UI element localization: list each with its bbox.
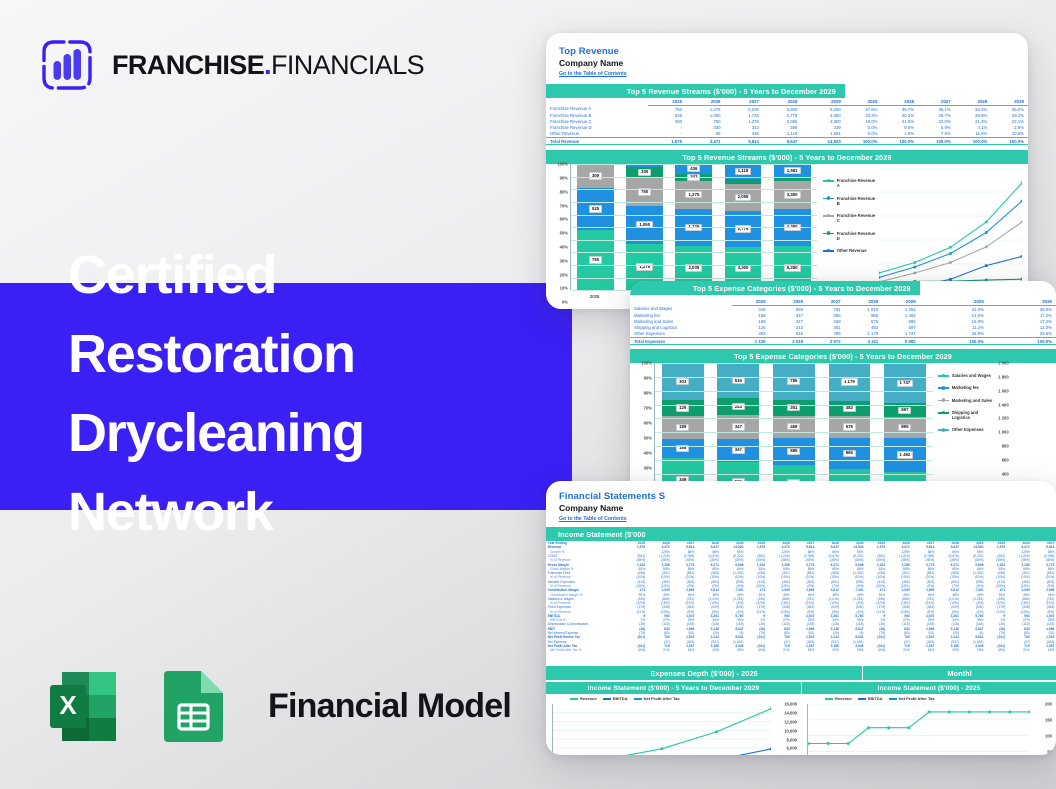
legend-item: Other Revenue [823,248,879,253]
bar-chart-logo-icon [36,34,98,96]
revenue-company-name: Company Name [559,58,1028,68]
fin-chart2-y-axis: (50)-50100150200 [1032,704,1054,755]
bar-segment: 1 492 [884,438,926,472]
legend-label: Net Profit After Tax [644,696,680,701]
table-cell: (6%) [625,648,647,652]
bar-segment: 158 [662,439,704,458]
legend-item: Net Profit After Tax [889,696,935,701]
axis-tick: 8,000 [787,737,797,742]
row-label: Net Profit After Tax % [546,648,625,652]
axis-tick: 30% [644,466,652,471]
fin-chart2-plot [807,704,1030,755]
format-label: Financial Model [268,687,511,726]
legend-label: Marketing fee [952,385,994,390]
bar-segment: 351 [773,400,815,416]
legend-item: Franchise Revenue A [823,178,879,189]
bar-segment: 1,050 [626,206,663,244]
col-2026: 2026 [686,98,724,106]
legend-item: Franchise Revenue C [823,213,879,224]
bar-segment: 675 [829,416,871,438]
fin-chart1-legend: RevenueEBITDANet Profit After Tax [570,696,680,701]
bar-segment: 243 [717,398,759,415]
axis-tick: 600 [1002,457,1009,462]
table-cell: 26% [721,648,746,652]
revenue-bar-y-axis: 0%10%20%30%40%50%60%70%80%90%100% [546,164,570,302]
legend-item: Salaries and Wages [938,373,994,378]
table-cell: 26% [841,648,866,652]
legend-label: Salaries and Wages [952,373,994,378]
table-row: Net Profit After Tax %(6%)21%18%23%26%(6… [546,648,1056,652]
legend-item: EBITDA [858,696,883,701]
expense-value-table: 2025 2026 2027 2028 2029 Salaries and Wa… [630,298,920,345]
axis-tick: 400 [1002,471,1009,476]
legend-label: Other Expenses [952,427,994,432]
table-cell: 23% [696,648,721,652]
axis-tick: 70% [560,203,568,208]
legend-label: Franchise Revenue A [837,178,879,189]
bar-segment: 1 179 [829,363,871,401]
page-title: Certified Restoration Drycleaning Networ… [68,236,588,552]
fin-chart2-legend: RevenueEBITDANet Profit After Tax [825,696,935,701]
microsoft-excel-icon: X [40,663,127,750]
legend-item: Revenue [825,696,852,701]
legend-label: Marketing and Sales [952,398,994,403]
fin-chart1-banner: Income Statement ($'000) - 5 Years to De… [546,682,801,694]
revenue-chart-legend: Franchise Revenue AFranchise Revenue BFr… [823,178,879,260]
income-statement-table: Year Ending20252026202720282029202520262… [546,541,1056,652]
revenue-value-table: 2025 2026 2027 2028 2029 Franchise Reven… [546,98,845,145]
bar-segment: 585 [773,438,815,465]
col-2028: 2028 [763,98,801,106]
axis-tick: 40% [560,244,568,249]
bar-segment: 1,581 [774,164,811,177]
table-cell: 21% [887,648,912,652]
axis-tick: 70% [644,406,652,411]
revenue-toc-link[interactable]: Go to the Table of Contents [559,71,1028,77]
title-line-1: Certified [68,236,588,315]
col-2029: 2029 [801,98,844,106]
table-cell: 21% [1007,648,1032,652]
table-header-row: 2025 2026 2027 2028 2029 [546,98,845,106]
table-row: Other Revenue-664361,1181,581 [546,131,845,138]
table-header-row: 2025 2026 [920,298,1056,306]
expense-percent-table: 2025 2026 31.0%28.0% 14.0%17.2% 16.8%17.… [920,298,1056,345]
fin-5yr-line-chart: RevenueEBITDANet Profit After Tax (2,000… [546,694,801,755]
fin-company-name: Company Name [559,503,1056,513]
axis-tick: 800 [1002,443,1009,448]
axis-tick: 90% [560,175,568,180]
legend-label: Franchise Revenue C [837,213,879,224]
table-cell: 23% [816,648,841,652]
axis-tick: 50% [560,231,568,236]
table-total-row: Total Expenses1 1252 0192 9724 3115 982 [630,337,920,344]
legend-item: Franchise Revenue B [823,196,879,207]
axis-tick: 20% [560,272,568,277]
fin-chart2-banner: Income Statement ($'000) - 2025 [801,682,1056,694]
axis-tick: 200 [1045,702,1052,707]
axis-tick: 1 600 [998,388,1008,393]
legend-item: Marketing and Sales [938,398,994,403]
table-total-row: 100.0%100.0%100.0%100.0%100.0% [845,137,1028,144]
expense-chart-legend: Salaries and WagesMarketing feeMarketing… [938,373,994,440]
table-cell: 23% [936,648,961,652]
bar-segment: 786 [773,363,815,400]
table-row: Franchise Revenue A7501,2752,0353,3005,2… [546,106,845,113]
x-tick: 2025 [576,294,613,299]
brand-word-bold: FRANCHISE [112,50,264,80]
bar-segment: 436 [675,164,712,173]
table-cell: (6%) [985,648,1007,652]
axis-tick: 0% [562,300,568,305]
table-header-row: 2025 2026 2027 2028 2029 [630,298,920,306]
line-series-svg [553,704,771,755]
axis-tick: 1 200 [998,416,1008,421]
legend-label: EBITDA [613,696,628,701]
revenue-table-banner: Top 5 Revenue Streams ($'000) - 5 Years … [546,84,845,98]
axis-tick: 40% [644,451,652,456]
monthly-banner: Monthl [862,666,1056,680]
brand-wordmark: FRANCHISE.FINANCIALS [112,50,424,81]
bar-segment: 2,055 [725,184,762,211]
svg-text:X: X [59,690,77,720]
bar-segment: 303 [662,363,704,400]
legend-label: Franchise Revenue D [837,231,879,242]
table-row: 0.0%1.9%7.5%11.6%10.6% [845,131,1028,138]
revenue-bar-plot: 3005257503307501,0501,2754363431,2751,72… [570,164,817,290]
fin-sheet-title: Financial Statements S [559,491,1056,502]
brand-logo: FRANCHISE.FINANCIALS [36,34,424,96]
revenue-line-plot [879,168,1022,288]
brand-word-dot: . [264,50,271,80]
table-row: Salaries and Wages3495657811 0101 251 [630,306,920,313]
axis-tick: 1 400 [998,402,1008,407]
fin-sheet-header: Financial Statements S Company Name Go t… [546,481,1056,522]
table-header-row: 2025 2026 2027 2028 2029 [845,98,1028,106]
table-row: 31.0%28.0% [920,306,1056,313]
bar-segment: 482 [829,401,871,416]
legend-item: Marketing fee [938,385,994,390]
title-line-2: Restoration [68,315,588,394]
fin-table-banner: Income Statement ($'000 [546,527,1056,541]
table-cell: (6%) [745,648,767,652]
bar-segment: 1,275 [675,181,712,209]
axis-tick: 100% [557,162,568,167]
axis-tick: 10% [560,286,568,291]
brand-word-thin: FINANCIALS [271,50,424,80]
axis-tick: 1 000 [998,430,1008,435]
axis-tick: 50% [644,436,652,441]
legend-item: Other Expenses [938,427,994,432]
legend-label: Shipping and Logistics [952,410,994,421]
bar-segment: 2,775 [725,211,762,247]
table-row: Other Expenses3035167861 1791 747 [630,331,920,338]
bar-segment: 1 747 [884,363,926,403]
legend-item: Revenue [570,696,597,701]
expense-table-banner: Top 5 Expense Categories ($'000) - 5 Yea… [630,281,920,295]
axis-tick: 6,000 [787,746,797,751]
table-total-row: 100.0%100.0% [920,337,1056,344]
title-line-4: Network [68,473,588,552]
fin-toc-link[interactable]: Go to the Table of Contents [559,516,1056,522]
table-cell: 18% [911,648,936,652]
fin-monthly-line-chart: RevenueEBITDANet Profit After Tax (50)-5… [801,694,1056,755]
revenue-sheet-title: Top Revenue [559,46,1028,57]
axis-tick: 1 800 [998,374,1008,379]
table-cell: 21% [647,648,672,652]
legend-label: Revenue [835,696,852,701]
bar-segment: 895 [884,417,926,438]
table-cell: (6%) [865,648,887,652]
axis-tick: 80% [560,189,568,194]
legend-item: Shipping and Logistics [938,410,994,421]
axis-tick: 12,000 [784,719,797,724]
bar-segment: 3,300 [774,181,811,209]
axis-tick: 100 [1045,734,1052,739]
table-cell: 18% [1031,648,1056,652]
col-2027: 2027 [725,98,763,106]
table-cell: 18% [671,648,696,652]
axis-tick: 30% [560,258,568,263]
legend-label: Revenue [580,696,597,701]
revenue-chart-banner: Top 5 Revenue Streams ($'000) - 5 Years … [546,150,1028,164]
axis-tick: 90% [644,376,652,381]
bar-segment: 126 [662,400,704,415]
axis-tick: 16,000 [784,702,797,707]
legend-label: Other Revenue [837,248,879,253]
table-cell: 18% [791,648,816,652]
legend-item: Net Profit After Tax [634,696,680,701]
axis-tick: 50 [1047,750,1052,755]
bar-segment: 525 [577,188,614,230]
bar-segment: 516 [717,363,759,398]
legend-item: Franchise Revenue D [823,231,879,242]
table-cell: 21% [767,648,792,652]
legend-label: Franchise Revenue B [837,196,879,207]
axis-tick: 100% [641,361,652,366]
table-row: 47.6%36.7%35.1%34.2%35.2% [845,106,1028,113]
legend-item: EBITDA [603,696,628,701]
google-sheets-icon [149,663,236,750]
axis-tick: 2 000 [998,361,1008,366]
line-series-svg [808,704,1030,755]
fin-chart1-plot [552,704,771,755]
format-badges: X Financial Model [40,663,511,750]
table-row: 26.9%25.6% [920,331,1056,338]
table-total-row: Total Revenue1,5753,4715,8149,64714,920 [546,137,845,144]
revenue-percent-table: 2025 2026 2027 2028 2029 47.6%36.7%35.1%… [845,98,1028,145]
legend-label: EBITDA [868,696,883,701]
axis-tick: 60% [644,421,652,426]
axis-tick: 80% [644,391,652,396]
axis-tick: 10,000 [784,728,797,733]
financial-statements-card[interactable]: Financial Statements S Company Name Go t… [546,481,1056,755]
revenue-sheet-header: Top Revenue Company Name Go to the Table… [546,33,1028,77]
revenue-dashboard-card[interactable]: Top Revenue Company Name Go to the Table… [546,33,1028,309]
fin-chart1-y-axis: (2,000)-2,0004,0006,0008,00010,00012,000… [773,704,799,755]
line-series-svg [879,168,1022,288]
axis-tick: 150 [1045,718,1052,723]
col-2025: 2025 [648,98,686,106]
bar-segment: 965 [829,438,871,469]
expense-chart-banner: Top 5 Expense Categories ($'000) - 5 Yea… [630,349,1056,363]
axis-tick: 14,000 [784,710,797,715]
table-cell: 26% [960,648,985,652]
legend-label: Net Profit After Tax [899,696,935,701]
axis-tick: 60% [560,217,568,222]
title-line-3: Drycleaning [68,394,588,473]
expenses-depth-banner: Expenses Depth ($'000) - 2025 [546,666,862,680]
